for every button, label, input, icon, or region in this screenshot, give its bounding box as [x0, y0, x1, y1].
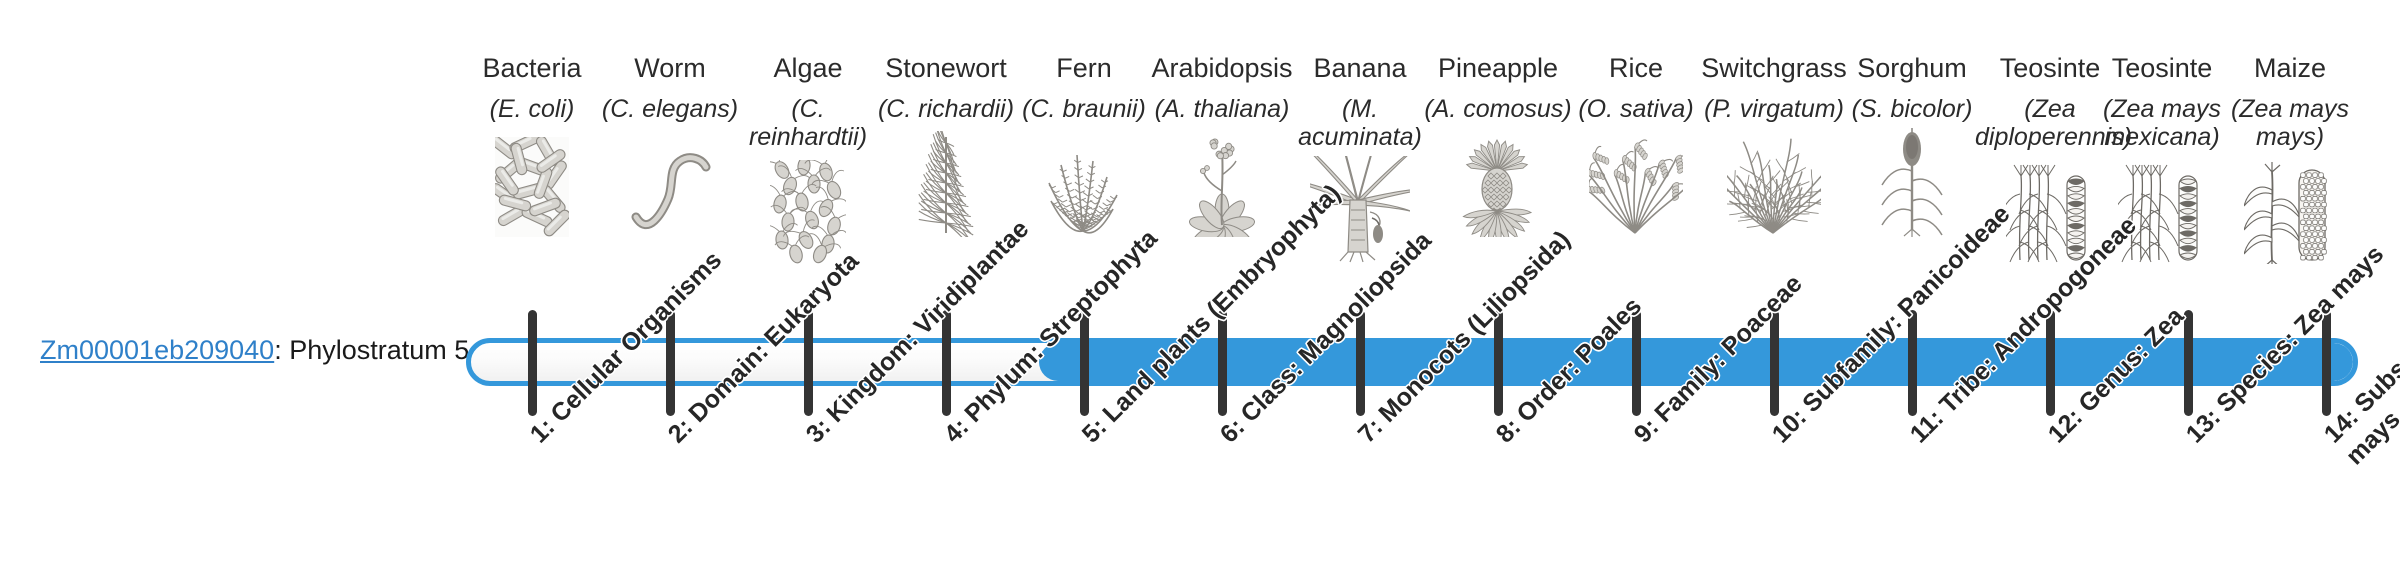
- species-common-name: Algae: [733, 54, 883, 82]
- gene-phylostratum-label: Zm00001eb209040: Phylostratum 5: [40, 336, 450, 366]
- species-latin-name: (A. thaliana): [1147, 96, 1297, 124]
- species-common-name: Banana: [1285, 54, 1435, 82]
- species-latin-name: (P. virgatum): [1699, 96, 1849, 124]
- species-latin-name: (Zea mays mays): [2215, 96, 2365, 151]
- species-latin-name: (C. richardii): [871, 96, 1021, 124]
- species-common-name: Sorghum: [1837, 54, 1987, 82]
- species-common-name: Pineapple: [1423, 54, 1573, 82]
- species-common-name: Bacteria: [457, 54, 607, 82]
- species-latin-name: (S. bicolor): [1837, 96, 1987, 124]
- phylostratum-timeline: Zm00001eb209040: Phylostratum 5 Bacteria…: [0, 0, 2400, 580]
- species-latin-name: (M. acuminata): [1285, 96, 1435, 151]
- species-latin-name: (C. reinhardtii): [733, 96, 883, 151]
- species-common-name: Stonewort: [871, 54, 1021, 82]
- species-latin-name: (C. elegans): [595, 96, 745, 124]
- phylostratum-value: Phylostratum 5: [289, 335, 469, 365]
- species-latin-name: (O. sativa): [1561, 96, 1711, 124]
- species-column-worm-2: Worm(C. elegans): [595, 54, 745, 237]
- species-latin-name: (E. coli): [457, 96, 607, 124]
- species-latin-name: (A. comosus): [1423, 96, 1573, 124]
- gene-id-link[interactable]: Zm00001eb209040: [40, 335, 274, 365]
- species-column-bacteria-1: Bacteria(E. coli): [457, 54, 607, 237]
- nematode-worm-icon: [595, 132, 745, 237]
- bacteria-icon: [457, 132, 607, 237]
- species-common-name: Fern: [1009, 54, 1159, 82]
- species-common-name: Arabidopsis: [1147, 54, 1297, 82]
- species-common-name: Switchgrass: [1699, 54, 1849, 82]
- species-latin-name: (C. braunii): [1009, 96, 1159, 124]
- species-common-name: Maize: [2215, 54, 2365, 82]
- species-common-name: Rice: [1561, 54, 1711, 82]
- tick-mark-level-1[interactable]: [528, 310, 537, 416]
- species-common-name: Worm: [595, 54, 745, 82]
- gene-label-separator: :: [274, 335, 289, 365]
